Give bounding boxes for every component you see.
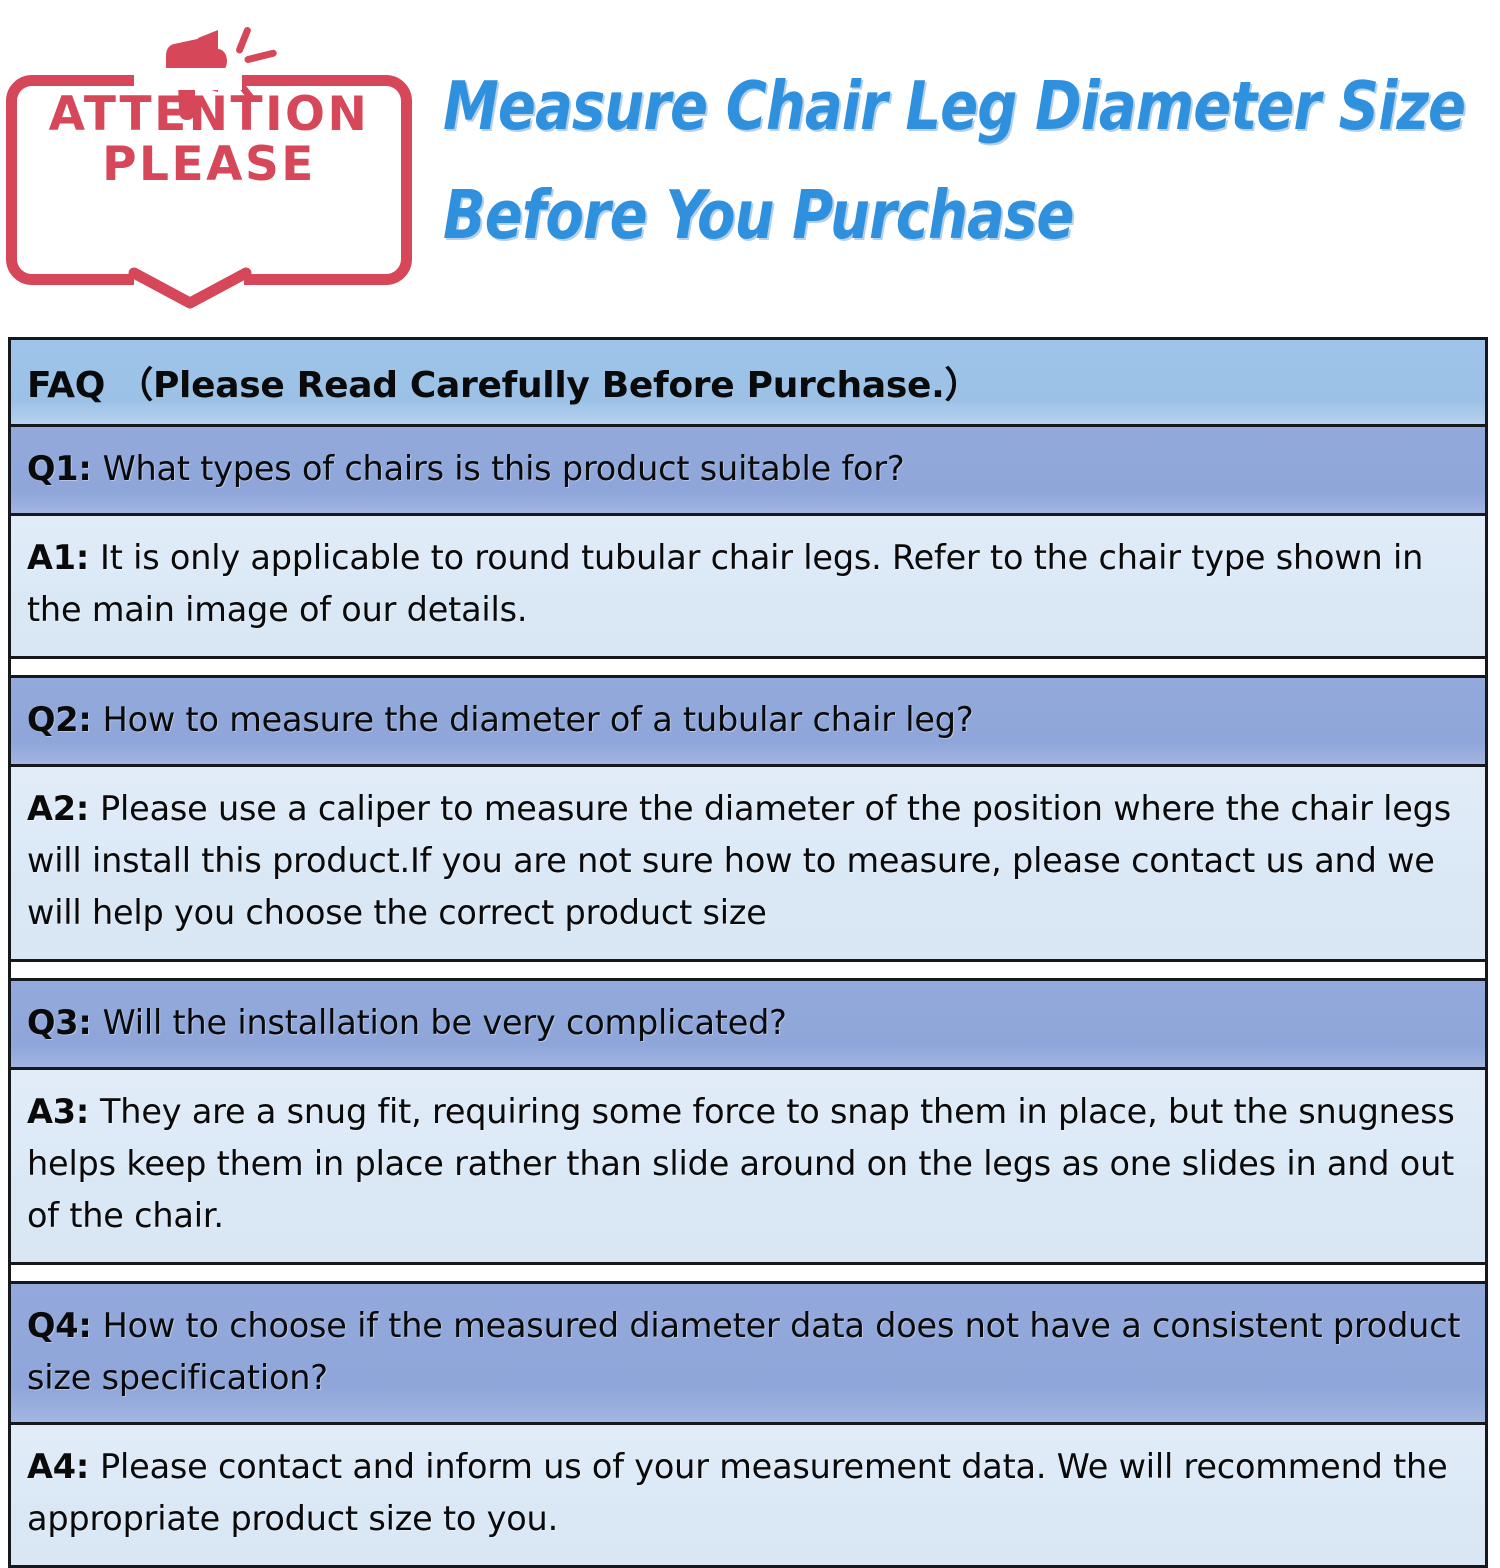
page-title-line-2: Before You Purchase <box>443 161 1420 270</box>
badge-line-1: ATTENTION <box>6 90 412 140</box>
faq-answer-label-4: A4: <box>27 1447 89 1486</box>
product-faq-infographic: ATTENTION PLEASE Measure Chair Leg Diame… <box>0 0 1500 1493</box>
faq-question-label-3: Q3: <box>27 1003 92 1042</box>
page-title: Measure Chair Leg Diameter Size Before Y… <box>443 52 1420 269</box>
faq-question-text-2: Q2:How to measure the diameter of a tubu… <box>27 678 1469 764</box>
faq-answer-text-1: A1:It is only applicable to round tubula… <box>27 516 1469 656</box>
faq-answer-label-3: A3: <box>27 1092 89 1131</box>
faq-answer-label-1: A1: <box>27 538 89 577</box>
faq-question-row-4: Q4:How to choose if the measured diamete… <box>11 1281 1485 1422</box>
faq-question-row-2: Q2:How to measure the diameter of a tubu… <box>11 675 1485 764</box>
attention-please-badge: ATTENTION PLEASE <box>6 18 424 290</box>
faq-answer-row-2: A2:Please use a caliper to measure the d… <box>11 764 1485 959</box>
faq-answer-text-3: A3:They are a snug fit, requiring some f… <box>27 1070 1469 1262</box>
faq-question-body-2: How to measure the diameter of a tubular… <box>103 700 974 739</box>
faq-answer-text-2: A2:Please use a caliper to measure the d… <box>27 767 1469 959</box>
faq-question-label-2: Q2: <box>27 700 92 739</box>
page-title-line-1: Measure Chair Leg Diameter Size <box>443 52 1420 161</box>
faq-answer-body-1: It is only applicable to round tubular c… <box>27 538 1423 629</box>
faq-answer-row-3: A3:They are a snug fit, requiring some f… <box>11 1067 1485 1262</box>
faq-row-spacer-3 <box>11 1262 1485 1281</box>
faq-question-row-1: Q1:What types of chairs is this product … <box>11 424 1485 513</box>
faq-row-spacer-1 <box>11 656 1485 675</box>
faq-question-body-4: How to choose if the measured diameter d… <box>27 1306 1460 1397</box>
faq-answer-body-2: Please use a caliper to measure the diam… <box>27 789 1451 932</box>
faq-question-body-1: What types of chairs is this product sui… <box>103 449 905 488</box>
faq-title: FAQ （Please Read Carefully Before Purcha… <box>27 356 980 408</box>
faq-answer-row-1: A1:It is only applicable to round tubula… <box>11 513 1485 656</box>
badge-text: ATTENTION PLEASE <box>6 90 412 191</box>
faq-table: FAQ （Please Read Carefully Before Purcha… <box>8 337 1488 1568</box>
attention-banner: ATTENTION PLEASE Measure Chair Leg Diame… <box>0 0 1500 330</box>
faq-question-text-1: Q1:What types of chairs is this product … <box>27 427 1469 513</box>
faq-table-header: FAQ （Please Read Carefully Before Purcha… <box>11 340 1485 424</box>
faq-answer-body-3: They are a snug fit, requiring some forc… <box>27 1092 1455 1235</box>
faq-question-text-3: Q3:Will the installation be very complic… <box>27 981 1469 1067</box>
faq-row-spacer-2 <box>11 959 1485 978</box>
badge-line-2: PLEASE <box>6 140 412 190</box>
faq-answer-row-4: A4:Please contact and inform us of your … <box>11 1422 1485 1565</box>
faq-question-row-3: Q3:Will the installation be very complic… <box>11 978 1485 1067</box>
faq-question-body-3: Will the installation be very complicate… <box>103 1003 787 1042</box>
faq-question-text-4: Q4:How to choose if the measured diamete… <box>27 1284 1469 1422</box>
faq-answer-label-2: A2: <box>27 789 89 828</box>
faq-question-label-4: Q4: <box>27 1306 92 1345</box>
faq-answer-text-4: A4:Please contact and inform us of your … <box>27 1425 1469 1565</box>
faq-question-label-1: Q1: <box>27 449 92 488</box>
badge-speech-tail <box>132 265 248 309</box>
